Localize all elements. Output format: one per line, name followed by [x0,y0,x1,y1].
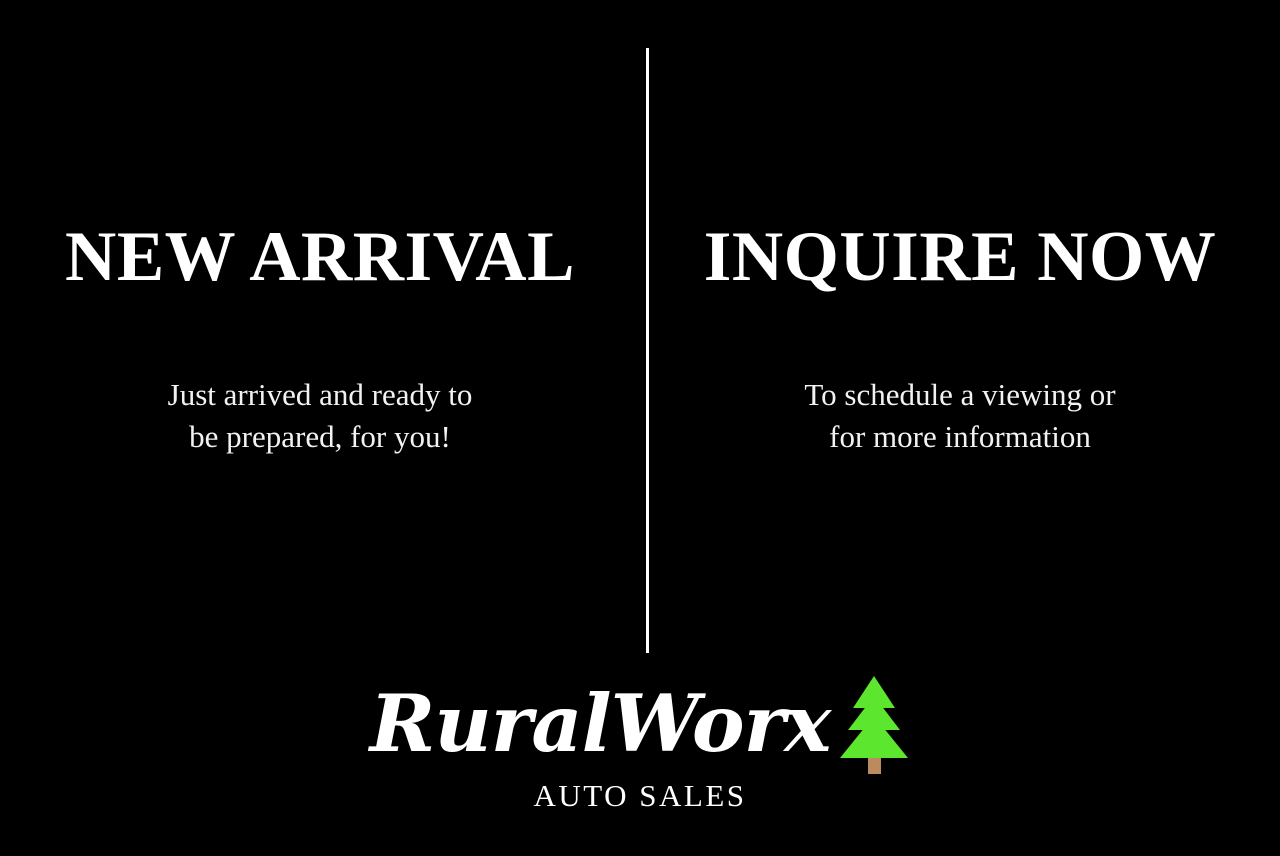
brand-logo: RuralWorx AUTO SALES [0,672,1280,832]
inquire-now-heading: INQUIRE NOW [640,222,1280,293]
vertical-divider [646,48,649,653]
logo-main-row: RuralWorx [370,672,911,776]
pine-tree-icon [838,672,910,776]
inquire-now-body: To schedule a viewing or for more inform… [640,374,1280,458]
new-arrival-body-line-1: Just arrived and ready to [0,374,640,416]
logo-wordmark: RuralWorx [370,672,831,776]
new-arrival-body-line-2: be prepared, for you! [0,416,640,458]
promo-column-inquire-now: INQUIRE NOW To schedule a viewing or for… [640,0,1280,660]
inquire-now-body-line-2: for more information [640,416,1280,458]
new-arrival-heading: NEW ARRIVAL [0,222,640,293]
promo-column-new-arrival: NEW ARRIVAL Just arrived and ready to be… [0,0,640,660]
inquire-now-body-line-1: To schedule a viewing or [640,374,1280,416]
new-arrival-body: Just arrived and ready to be prepared, f… [0,374,640,458]
logo-tagline: AUTO SALES [0,778,1280,814]
promo-area: NEW ARRIVAL Just arrived and ready to be… [0,0,1280,660]
promo-banner: NEW ARRIVAL Just arrived and ready to be… [0,0,1280,856]
